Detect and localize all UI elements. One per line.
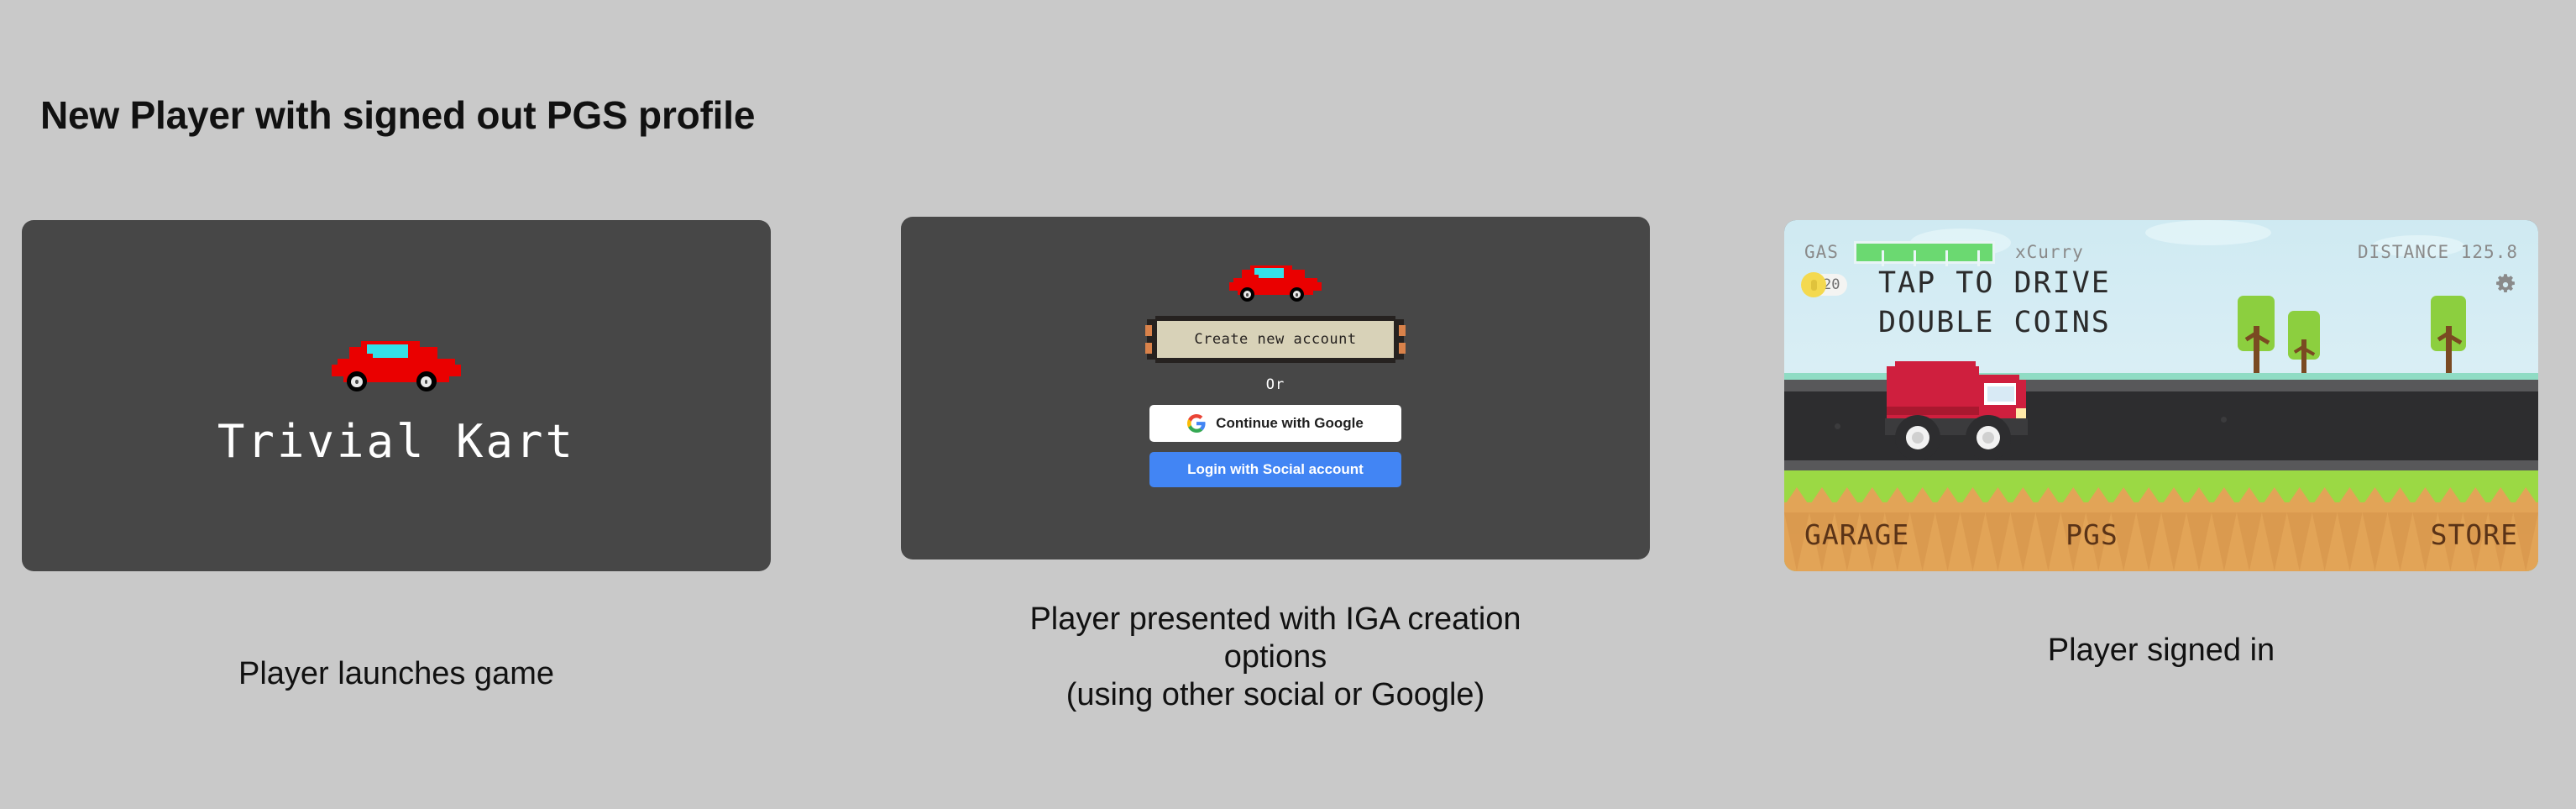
button-stud-top-left — [1145, 325, 1152, 336]
continue-with-google-button[interactable]: Continue with Google — [1149, 405, 1401, 442]
google-g-icon — [1187, 414, 1206, 433]
coin-icon — [1801, 272, 1826, 297]
game-tagline: TAP TO DRIVE DOUBLE COINS — [1878, 264, 2111, 344]
distance-readout: DISTANCE 125.8 — [2358, 242, 2518, 262]
iga-options-stack: Create new account Or Continue with Goog… — [1137, 316, 1414, 487]
tree-icon — [2238, 296, 2275, 373]
game-bottom-nav: GARAGE PGS STORE — [1784, 518, 2538, 551]
caption-signed-in: Player signed in — [1784, 632, 2538, 670]
gas-label: GAS — [1804, 242, 1839, 262]
pixel-car-icon — [332, 329, 461, 394]
player-username: xCurry — [2015, 242, 2084, 262]
login-with-social-account-label: Login with Social account — [1187, 461, 1364, 478]
tagline-line-1: TAP TO DRIVE — [1878, 264, 2111, 303]
create-new-account-label: Create new account — [1194, 331, 1356, 348]
nav-item-garage[interactable]: GARAGE — [1804, 518, 1909, 551]
hud-top-row: GAS xCurry DISTANCE 125.8 — [1804, 240, 2518, 264]
button-frame-top — [1155, 316, 1395, 321]
gas-bar — [1854, 241, 1995, 264]
panel-iga-options: Create new account Or Continue with Goog… — [901, 217, 1650, 559]
button-stud-bottom-right — [1399, 343, 1406, 354]
caption-launch-game: Player launches game — [22, 655, 771, 693]
or-divider-label: Or — [1266, 376, 1285, 393]
tagline-line-2: DOUBLE COINS — [1878, 303, 2111, 343]
button-stud-top-right — [1399, 325, 1406, 336]
road-kerb-bottom — [1784, 460, 2538, 470]
login-with-social-account-button[interactable]: Login with Social account — [1149, 452, 1401, 487]
button-stud-bottom-left — [1145, 343, 1152, 354]
game-scene: GAS xCurry DISTANCE 125.8 20 TAP TO DRIV… — [1784, 220, 2538, 571]
coin-badge: 20 — [1801, 272, 1847, 297]
nav-item-pgs[interactable]: PGS — [2066, 518, 2118, 551]
tree-icon — [2431, 296, 2466, 373]
nav-item-store[interactable]: STORE — [2431, 518, 2518, 551]
caption-iga-options: Player presented with IGA creation optio… — [901, 601, 1650, 713]
tree-icon — [2288, 306, 2320, 373]
button-frame-bottom — [1155, 358, 1395, 363]
panel-signed-in: GAS xCurry DISTANCE 125.8 20 TAP TO DRIV… — [1784, 220, 2538, 571]
create-new-account-button[interactable]: Create new account — [1142, 316, 1409, 363]
continue-with-google-label: Continue with Google — [1216, 415, 1364, 432]
page-title: New Player with signed out PGS profile — [40, 92, 755, 138]
gear-icon[interactable] — [2493, 272, 2518, 297]
panel-launch-game: Trivial Kart — [22, 220, 771, 571]
player-truck — [1885, 360, 2053, 460]
game-wordmark: Trivial Kart — [22, 415, 771, 468]
pixel-car-icon — [1229, 257, 1322, 303]
